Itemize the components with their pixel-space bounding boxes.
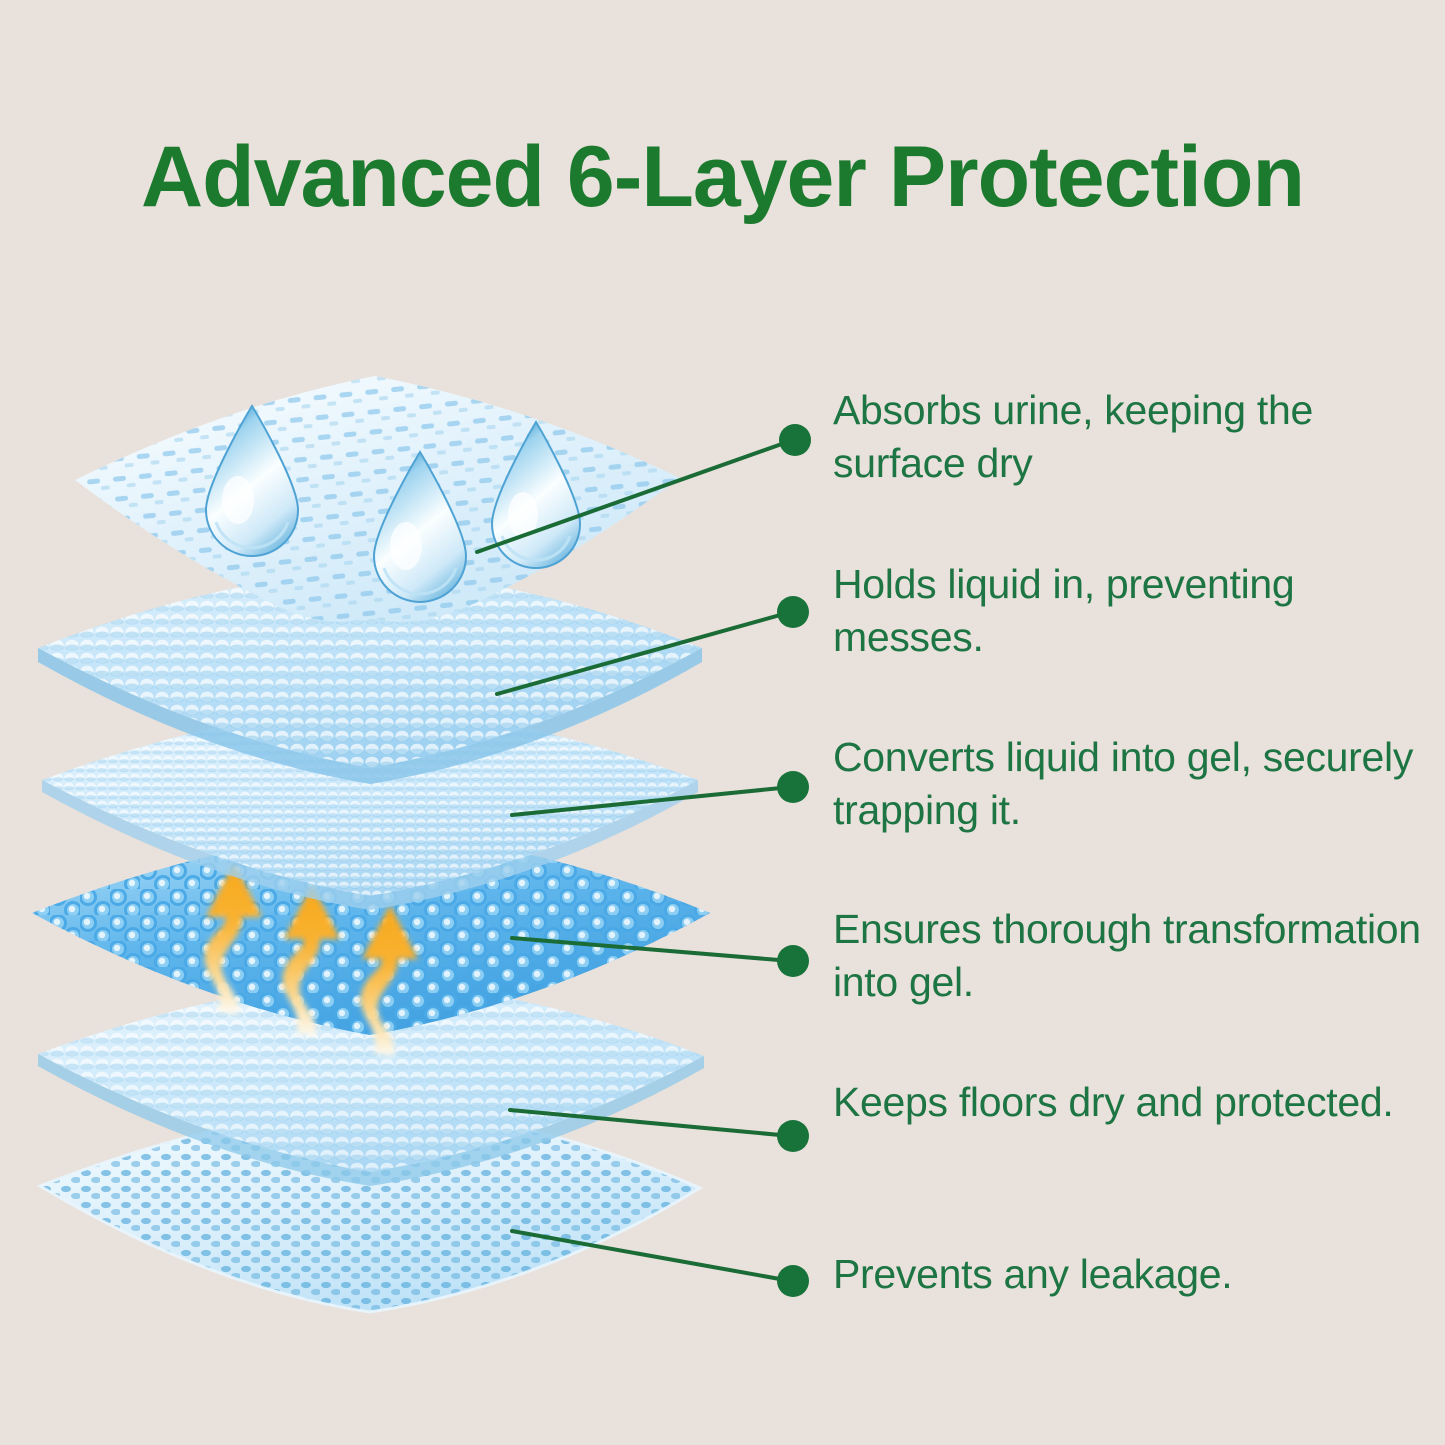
- callout-dot-icon-4: [777, 945, 809, 977]
- layer-1-top-dry-surface-sheet: [20, 360, 720, 660]
- callout-dot-icon-2: [777, 596, 809, 628]
- layer-4-label: Ensures thorough transformation into gel…: [833, 903, 1423, 1010]
- layer-3-label: Converts liquid into gel, securely trapp…: [833, 731, 1423, 838]
- layer-2-label: Holds liquid in, preventing messes.: [833, 558, 1423, 665]
- infographic-canvas: Advanced 6-Layer Protection: [0, 0, 1445, 1445]
- callout-dot-icon-6: [777, 1265, 809, 1297]
- layer-5-label: Keeps floors dry and protected.: [833, 1076, 1423, 1129]
- layer-1-label: Absorbs urine, keeping the surface dry: [833, 384, 1423, 491]
- exploded-layer-illustration: [20, 340, 760, 1370]
- page-title: Advanced 6-Layer Protection: [0, 128, 1445, 227]
- callout-dot-icon-3: [777, 771, 809, 803]
- callout-dot-icon-5: [777, 1120, 809, 1152]
- layer-6-label: Prevents any leakage.: [833, 1248, 1423, 1301]
- callout-dot-icon-1: [779, 424, 811, 456]
